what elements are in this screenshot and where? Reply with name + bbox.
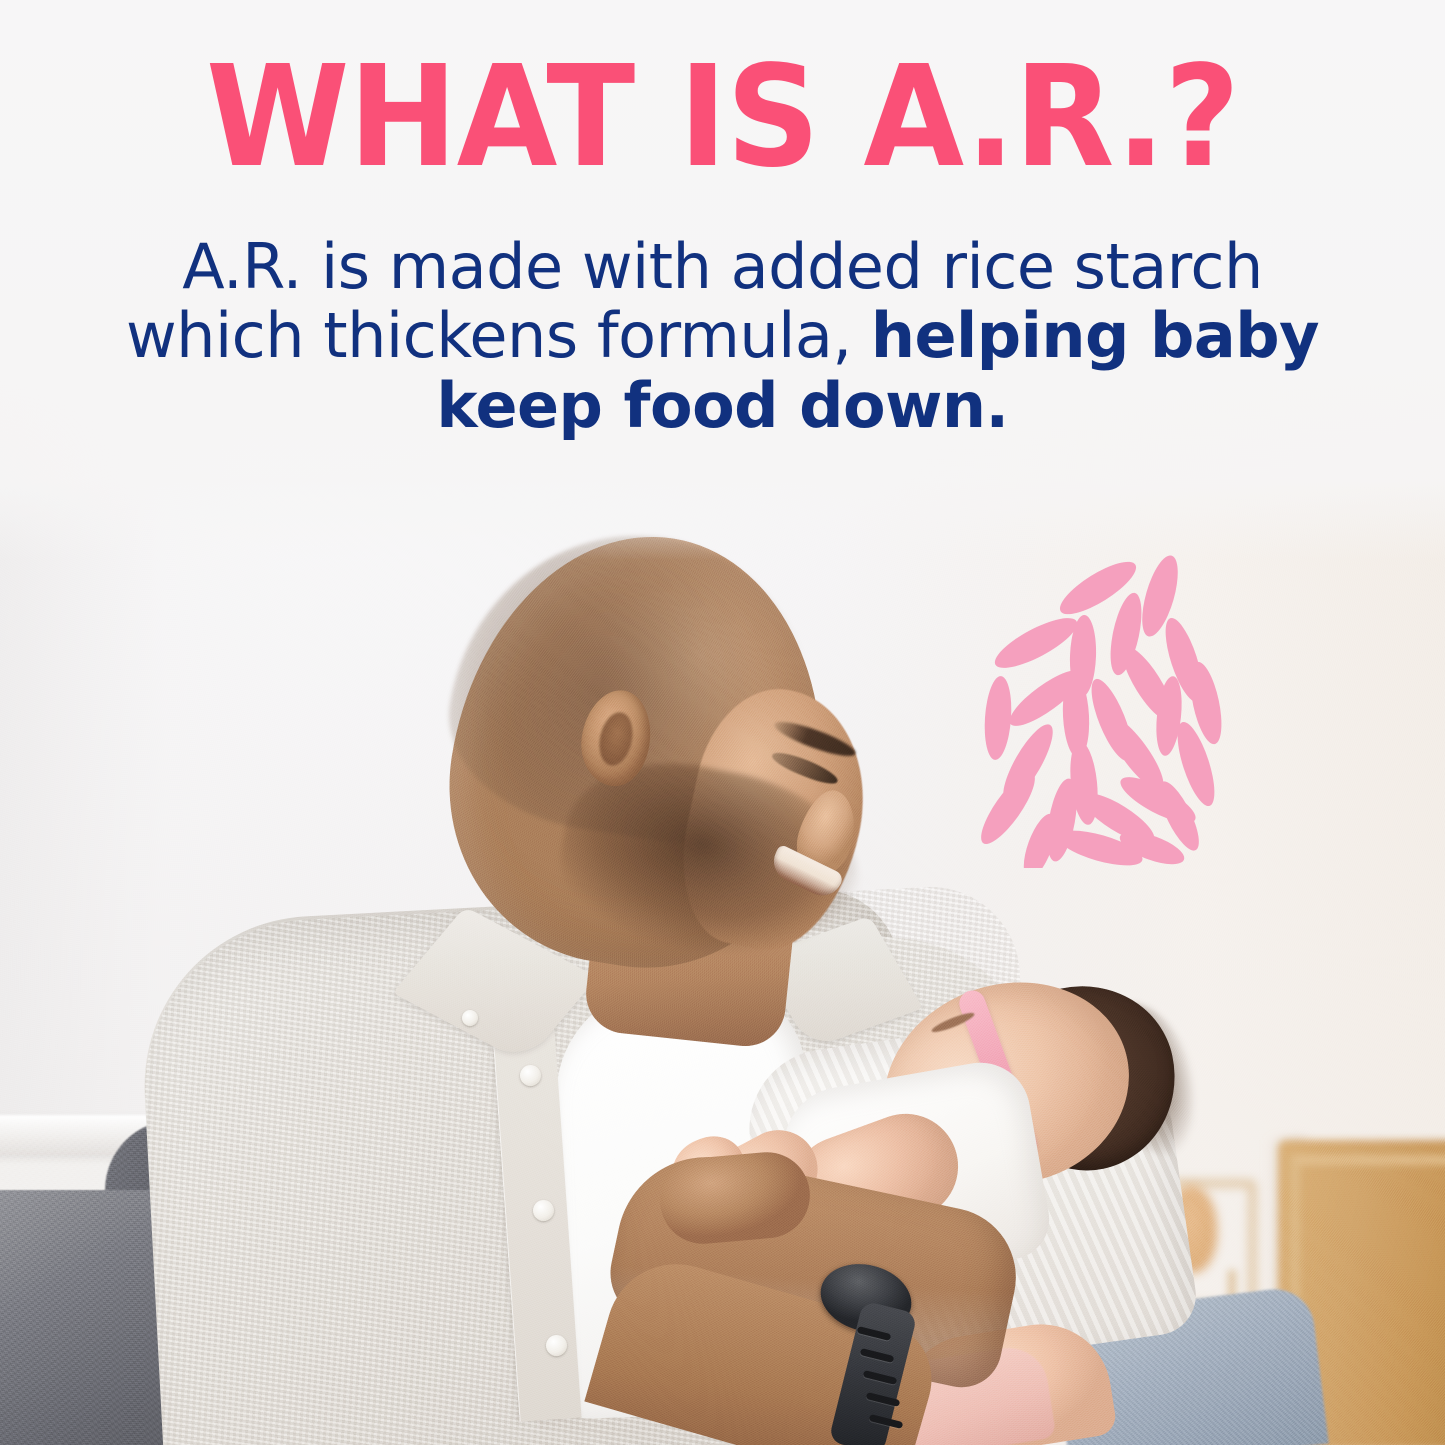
shirt-button [546,1335,567,1356]
rice-grain-cluster-icon [970,548,1240,868]
poster-canvas: WHAT IS A.R.? A.R. is made with added ri… [0,0,1445,1445]
shirt-button [520,1065,541,1086]
shirt-button [533,1200,554,1221]
collar-button [462,1010,478,1026]
subtitle-text: A.R. is made with added rice starch whic… [110,232,1335,440]
page-title: WHAT IS A.R.? [51,48,1395,188]
